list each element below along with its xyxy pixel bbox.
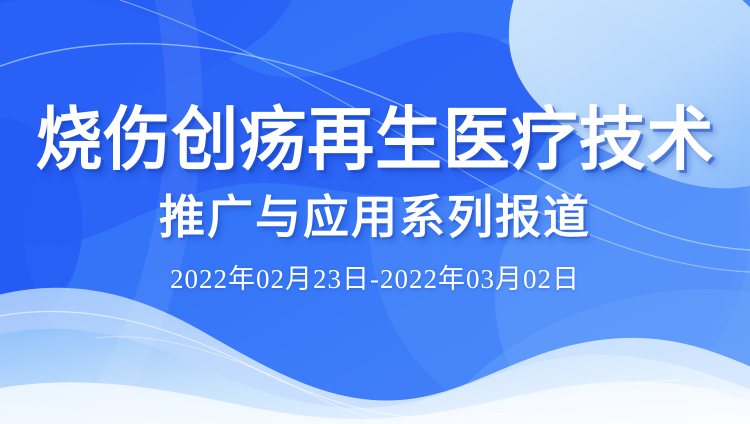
banner-title: 烧伤创疡再生医疗技术 — [36, 100, 715, 180]
promo-banner: 烧伤创疡再生医疗技术 推广与应用系列报道 2022年02月23日-2022年03… — [0, 0, 750, 424]
banner-text-stack: 烧伤创疡再生医疗技术 推广与应用系列报道 2022年02月23日-2022年03… — [0, 0, 750, 424]
banner-date-range: 2022年02月23日-2022年03月02日 — [170, 264, 580, 294]
banner-subtitle: 推广与应用系列报道 — [159, 190, 591, 244]
